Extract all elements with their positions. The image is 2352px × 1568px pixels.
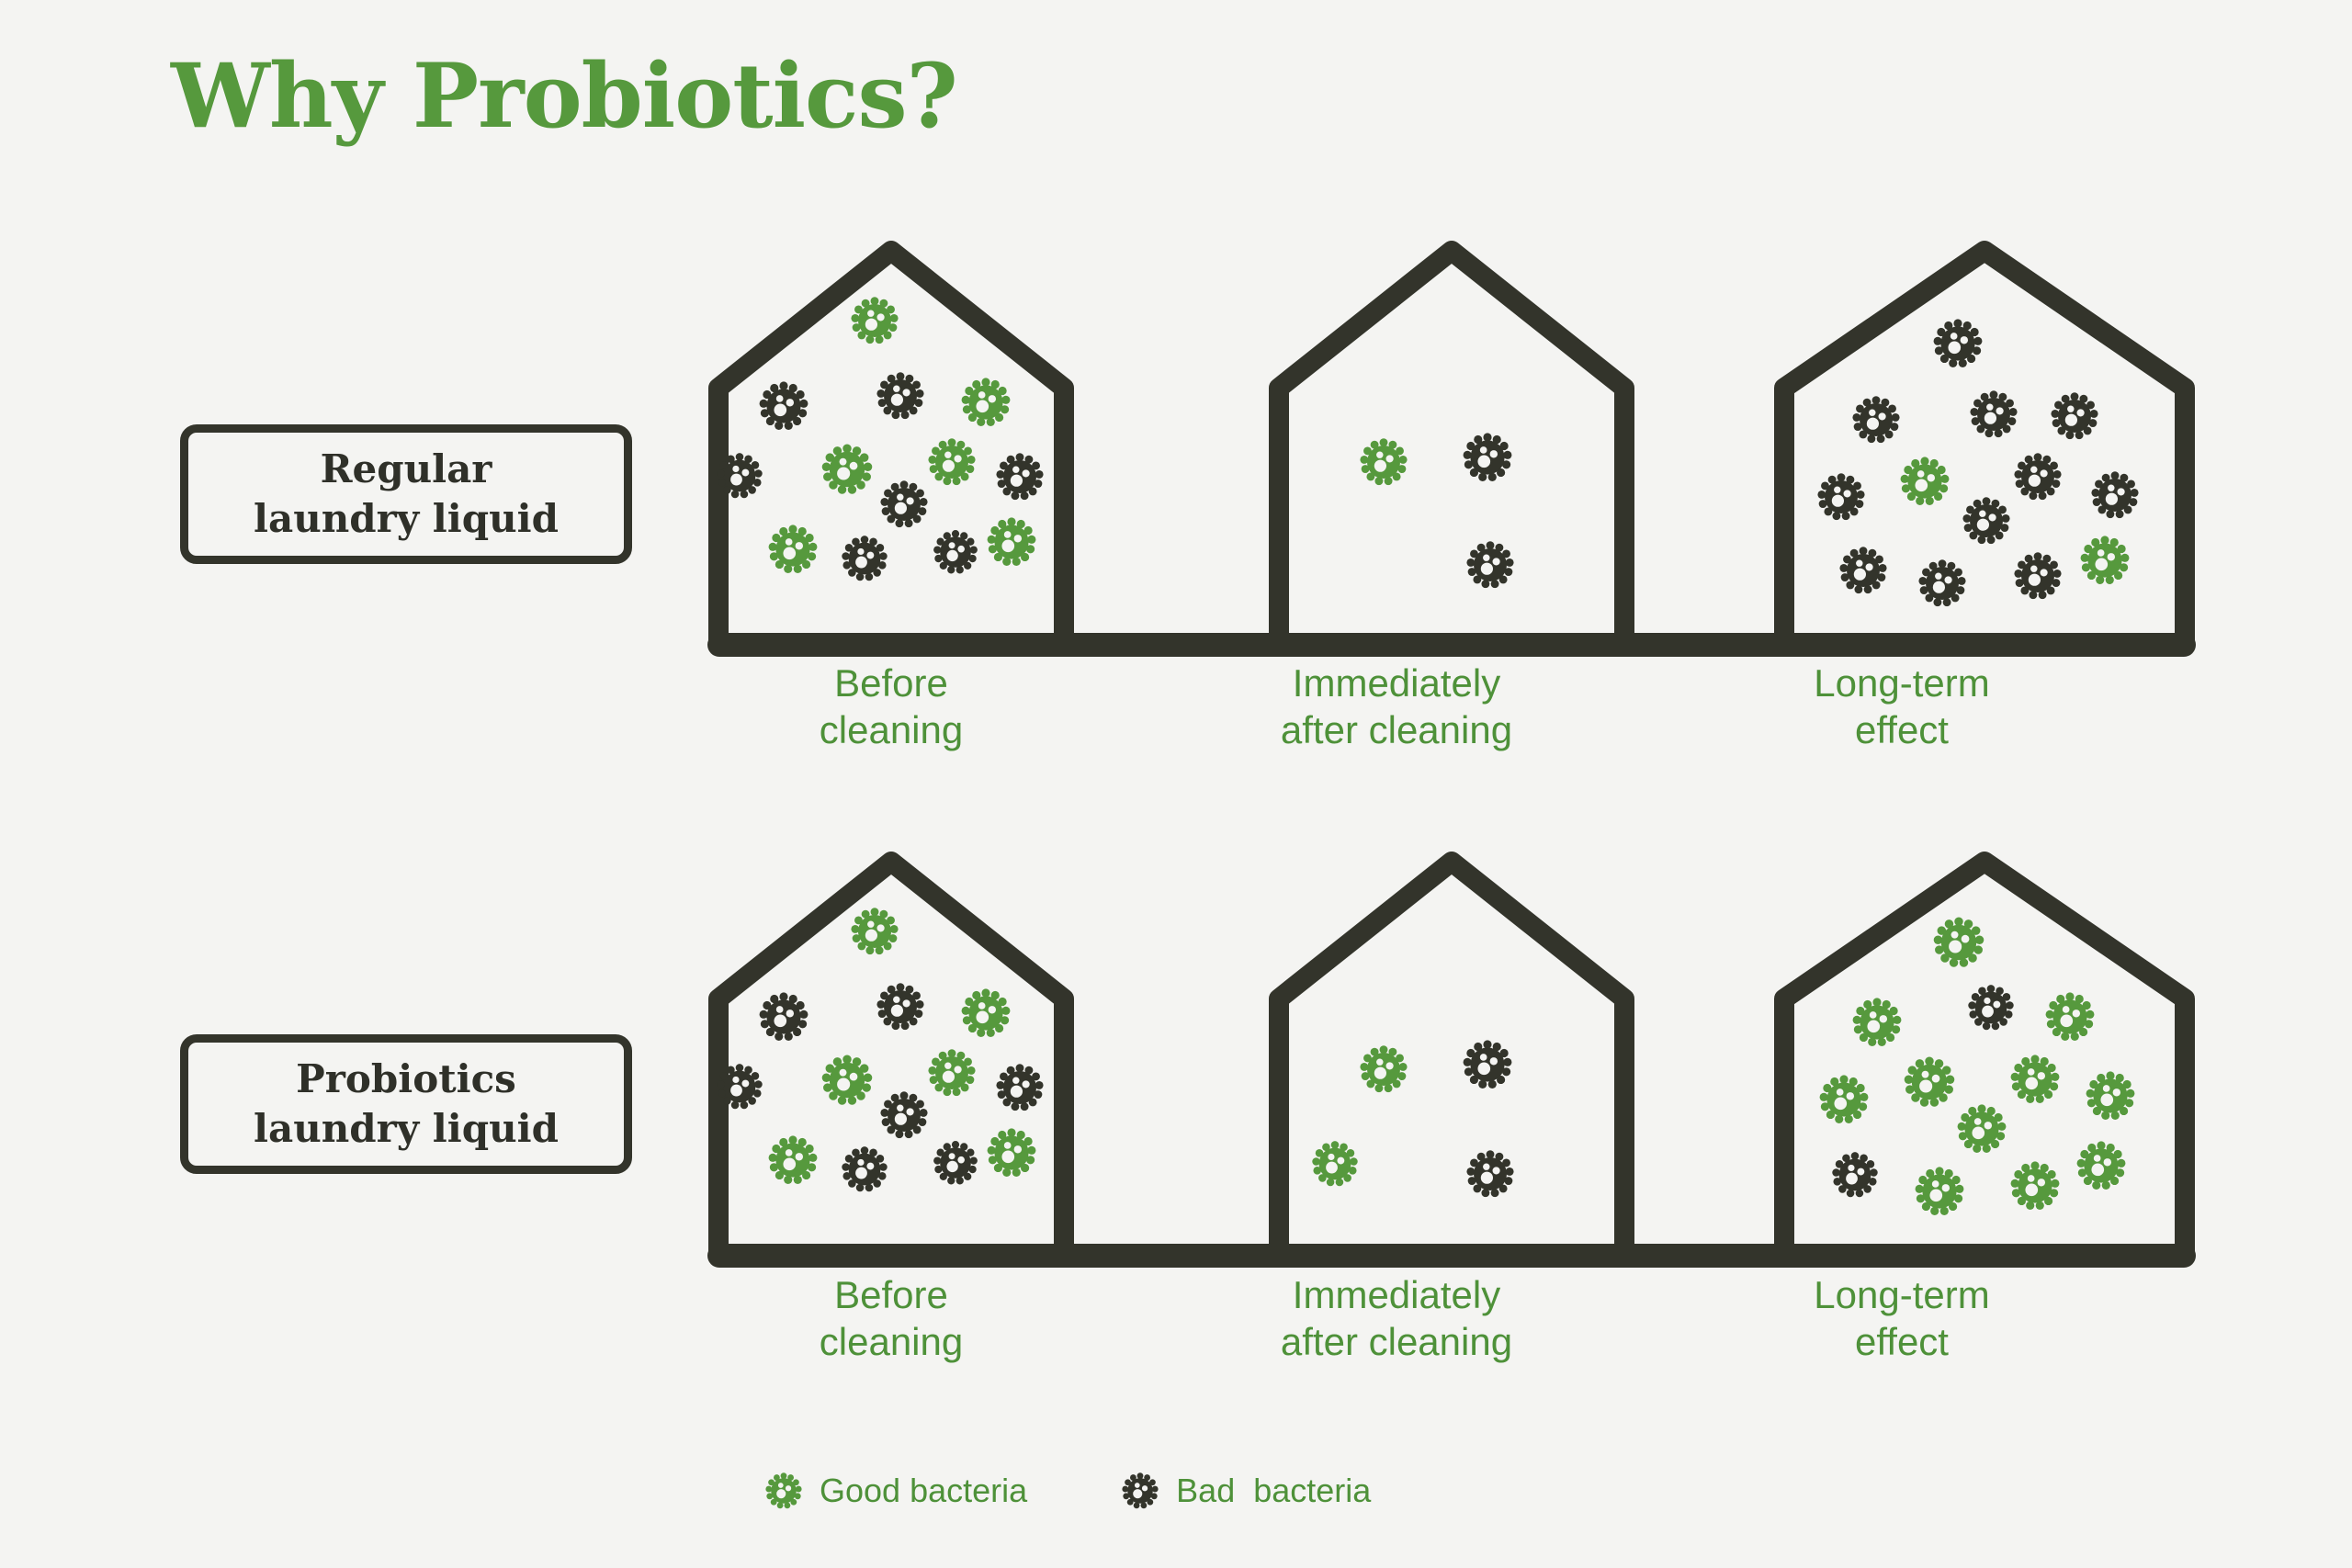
- bacteria-group: [707, 851, 1075, 1251]
- good-bacteria-icon: [983, 513, 1040, 570]
- good-bacteria-icon: [818, 440, 876, 499]
- good-bacteria-icon: [1953, 1100, 2010, 1157]
- caption-probiotics-stage-3: Long-term effect: [1663, 1271, 2141, 1365]
- good-bacteria-icon: [2073, 1137, 2130, 1194]
- good-bacteria-icon: [2082, 1067, 2139, 1124]
- caption-probiotics-stage-2: Immediately after cleaning: [1158, 1271, 1635, 1365]
- good-bacteria-icon: [847, 904, 902, 959]
- bad-bacteria-icon: [1964, 981, 2018, 1034]
- bad-bacteria-icon: [1459, 429, 1516, 486]
- bad-bacteria-icon: [992, 449, 1047, 504]
- row-label-probiotics: Probiotics laundry liquid: [180, 1034, 632, 1174]
- bad-bacteria-icon: [1459, 1036, 1516, 1093]
- caption-probiotics-stage-1: Before cleaning: [652, 1271, 1130, 1365]
- house-regular-stage-1: [707, 240, 1075, 640]
- good-bacteria-icon: [2007, 1051, 2064, 1108]
- bad-bacteria-icon: [1463, 1146, 1518, 1201]
- bad-bacteria-icon: [876, 1088, 932, 1143]
- bad-bacteria-icon: [1929, 315, 1986, 372]
- good-bacteria-icon: [1815, 1071, 1872, 1128]
- bacteria-group: [1773, 851, 2196, 1251]
- good-bacteria-icon: [1896, 453, 1953, 510]
- good-bacteria-icon: [1900, 1053, 1959, 1111]
- legend-item-good: Good bacteria: [763, 1470, 1027, 1512]
- page-title: Why Probiotics?: [171, 44, 957, 148]
- bad-bacteria-icon: [930, 1137, 981, 1189]
- caption-regular-stage-2: Immediately after cleaning: [1158, 660, 1635, 753]
- bad-bacteria-icon: [1119, 1470, 1161, 1512]
- good-bacteria-icon: [764, 521, 821, 578]
- captions-regular: Before cleaningImmediately after cleanin…: [707, 660, 2196, 770]
- bad-bacteria-icon: [1915, 556, 1970, 611]
- legend-item-bad: Bad bacteria: [1119, 1470, 1371, 1512]
- bad-bacteria-icon: [838, 532, 891, 585]
- bad-bacteria-icon: [873, 979, 928, 1034]
- good-bacteria-icon: [924, 1045, 979, 1100]
- bacteria-group: [707, 240, 1075, 640]
- bad-bacteria-icon: [2087, 468, 2143, 523]
- bad-bacteria-icon: [755, 988, 812, 1045]
- bad-bacteria-icon: [992, 1060, 1047, 1115]
- bad-bacteria-icon: [1966, 387, 2021, 442]
- bacteria-group: [1773, 240, 2196, 640]
- house-probiotics-stage-2: [1268, 851, 1635, 1251]
- bad-bacteria-icon: [2047, 389, 2102, 444]
- good-bacteria-icon: [1911, 1163, 1968, 1220]
- good-bacteria-icon: [957, 374, 1014, 431]
- bad-bacteria-icon: [1463, 537, 1518, 592]
- good-bacteria-icon: [983, 1124, 1040, 1181]
- bad-bacteria-icon: [930, 526, 981, 578]
- good-bacteria-icon: [764, 1132, 821, 1189]
- good-bacteria-icon: [1356, 1042, 1411, 1097]
- good-bacteria-icon: [2007, 1157, 2064, 1214]
- good-bacteria-icon: [2041, 988, 2098, 1045]
- bad-bacteria-icon: [2010, 449, 2065, 504]
- good-bacteria-icon: [847, 293, 902, 348]
- row-label-regular: Regular laundry liquid: [180, 424, 632, 564]
- legend-label: Bad bacteria: [1176, 1472, 1371, 1510]
- bad-bacteria-icon: [755, 378, 812, 434]
- bad-bacteria-icon: [2010, 548, 2065, 604]
- good-bacteria-icon: [1308, 1137, 1362, 1190]
- good-bacteria-icon: [1929, 913, 1988, 972]
- bacteria-group: [1268, 240, 1635, 640]
- bad-bacteria-icon: [1836, 543, 1891, 598]
- bad-bacteria-icon: [1959, 493, 2014, 548]
- good-bacteria-icon: [2076, 532, 2133, 589]
- legend-label: Good bacteria: [820, 1472, 1027, 1510]
- caption-regular-stage-1: Before cleaning: [652, 660, 1130, 753]
- house-probiotics-stage-1: [707, 851, 1075, 1251]
- bad-bacteria-icon: [713, 449, 766, 502]
- good-bacteria-icon: [1356, 434, 1411, 490]
- scene-probiotics: [707, 836, 2196, 1268]
- row-label-regular-text: Regular laundry liquid: [254, 445, 559, 544]
- bad-bacteria-icon: [1849, 392, 1904, 447]
- row-label-probiotics-text: Probiotics laundry liquid: [254, 1055, 559, 1154]
- bad-bacteria-icon: [713, 1060, 766, 1113]
- good-bacteria-icon: [763, 1470, 805, 1512]
- legend: Good bacteriaBad bacteria: [763, 1470, 1371, 1512]
- captions-probiotics: Before cleaningImmediately after cleanin…: [707, 1271, 2196, 1382]
- good-bacteria-icon: [818, 1051, 876, 1110]
- bad-bacteria-icon: [876, 477, 932, 532]
- good-bacteria-icon: [957, 985, 1014, 1042]
- bad-bacteria-icon: [873, 368, 928, 423]
- bad-bacteria-icon: [838, 1143, 891, 1196]
- bacteria-group: [1268, 851, 1635, 1251]
- infographic-canvas: Why Probiotics? Regular laundry liquid P…: [0, 0, 2352, 1568]
- bad-bacteria-icon: [1814, 469, 1869, 525]
- scene-regular: [707, 225, 2196, 657]
- house-regular-stage-3: [1773, 240, 2196, 640]
- bad-bacteria-icon: [1828, 1148, 1882, 1201]
- house-probiotics-stage-3: [1773, 851, 2196, 1251]
- house-regular-stage-2: [1268, 240, 1635, 640]
- good-bacteria-icon: [1849, 994, 1905, 1051]
- good-bacteria-icon: [924, 434, 979, 490]
- caption-regular-stage-3: Long-term effect: [1663, 660, 2141, 753]
